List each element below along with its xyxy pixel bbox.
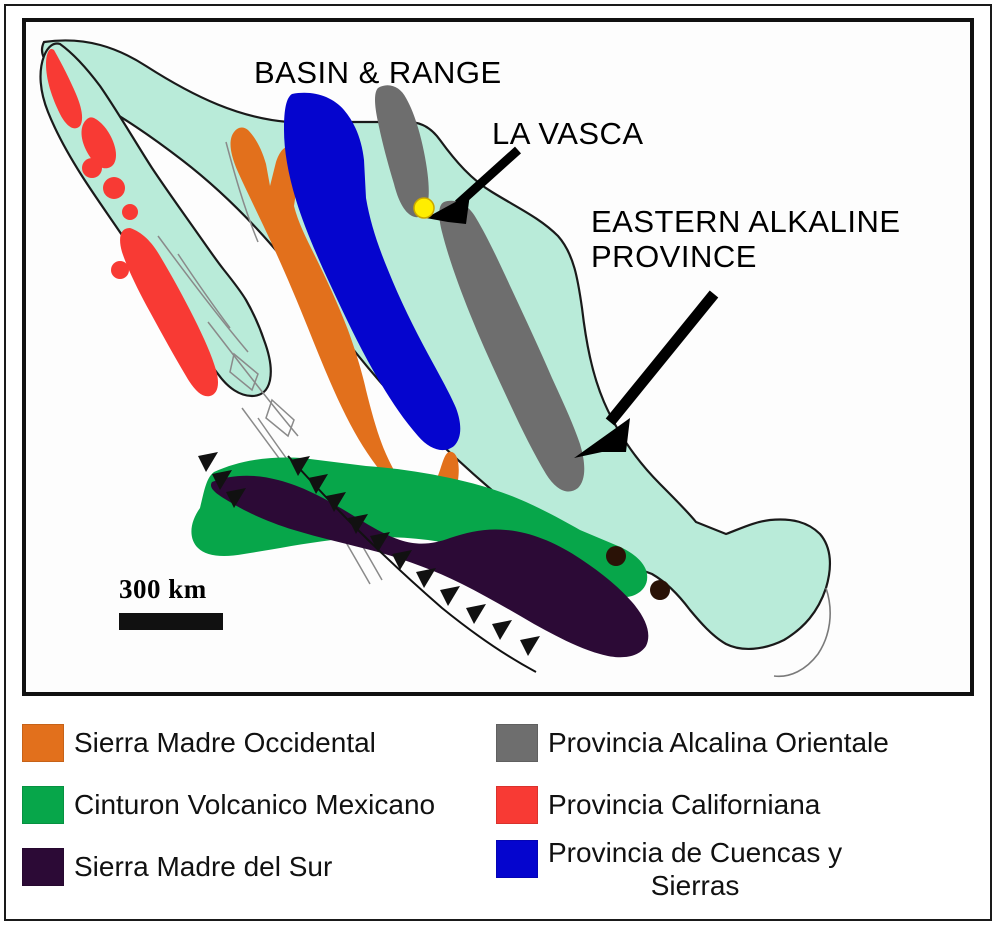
map-figure: BASIN & RANGE LA VASCA EASTERN ALKALINE …: [0, 0, 1000, 929]
legend-label: Provincia Alcalina Orientale: [548, 726, 889, 759]
legend-item-provincia-alcalina-orientale: Provincia Alcalina Orientale: [496, 712, 974, 774]
legend-label: Cinturon Volcanico Mexicano: [74, 788, 435, 821]
volcano-dot: [650, 580, 670, 600]
legend-label: Sierra Madre Occidental: [74, 726, 376, 759]
legend-label: Sierra Madre del Sur: [74, 850, 332, 883]
legend-swatch: [496, 724, 538, 762]
legend-label: Provincia de Cuencas y Sierras: [548, 836, 842, 902]
la-vasca-marker: [414, 198, 434, 218]
legend-item-sierra-madre-del-sur: Sierra Madre del Sur: [22, 836, 492, 898]
legend-item-cinturon-volcanico-mexicano: Cinturon Volcanico Mexicano: [22, 774, 492, 836]
map-label-la-vasca: LA VASCA: [492, 117, 644, 152]
legend-item-provincia-californiana: Provincia Californiana: [496, 774, 974, 836]
legend-column-right: Provincia Alcalina Orientale Provincia C…: [496, 712, 974, 914]
legend-item-sierra-madre-occidental: Sierra Madre Occidental: [22, 712, 492, 774]
legend-swatch: [496, 840, 538, 878]
legend-swatch: [496, 786, 538, 824]
scale-bar: 300 km: [119, 574, 223, 630]
volcano-dot: [606, 546, 626, 566]
eastern-alkaline-arrow-shaft: [610, 294, 714, 422]
legend-item-provincia-de-cuencas-y-sierras: Provincia de Cuencas y Sierras: [496, 836, 974, 914]
scale-bar-rule: [119, 613, 223, 630]
legend-swatch: [22, 786, 64, 824]
legend-label: Provincia Californiana: [548, 788, 820, 821]
legend: Sierra Madre Occidental Cinturon Volcani…: [22, 712, 974, 908]
map-panel: BASIN & RANGE LA VASCA EASTERN ALKALINE …: [22, 18, 974, 696]
legend-swatch: [22, 848, 64, 886]
map-label-eastern-alkaline-province: EASTERN ALKALINE PROVINCE: [591, 205, 901, 274]
map-label-basin-and-range: BASIN & RANGE: [254, 56, 502, 91]
legend-column-left: Sierra Madre Occidental Cinturon Volcani…: [22, 712, 492, 898]
legend-swatch: [22, 724, 64, 762]
scale-bar-label: 300 km: [119, 574, 223, 605]
